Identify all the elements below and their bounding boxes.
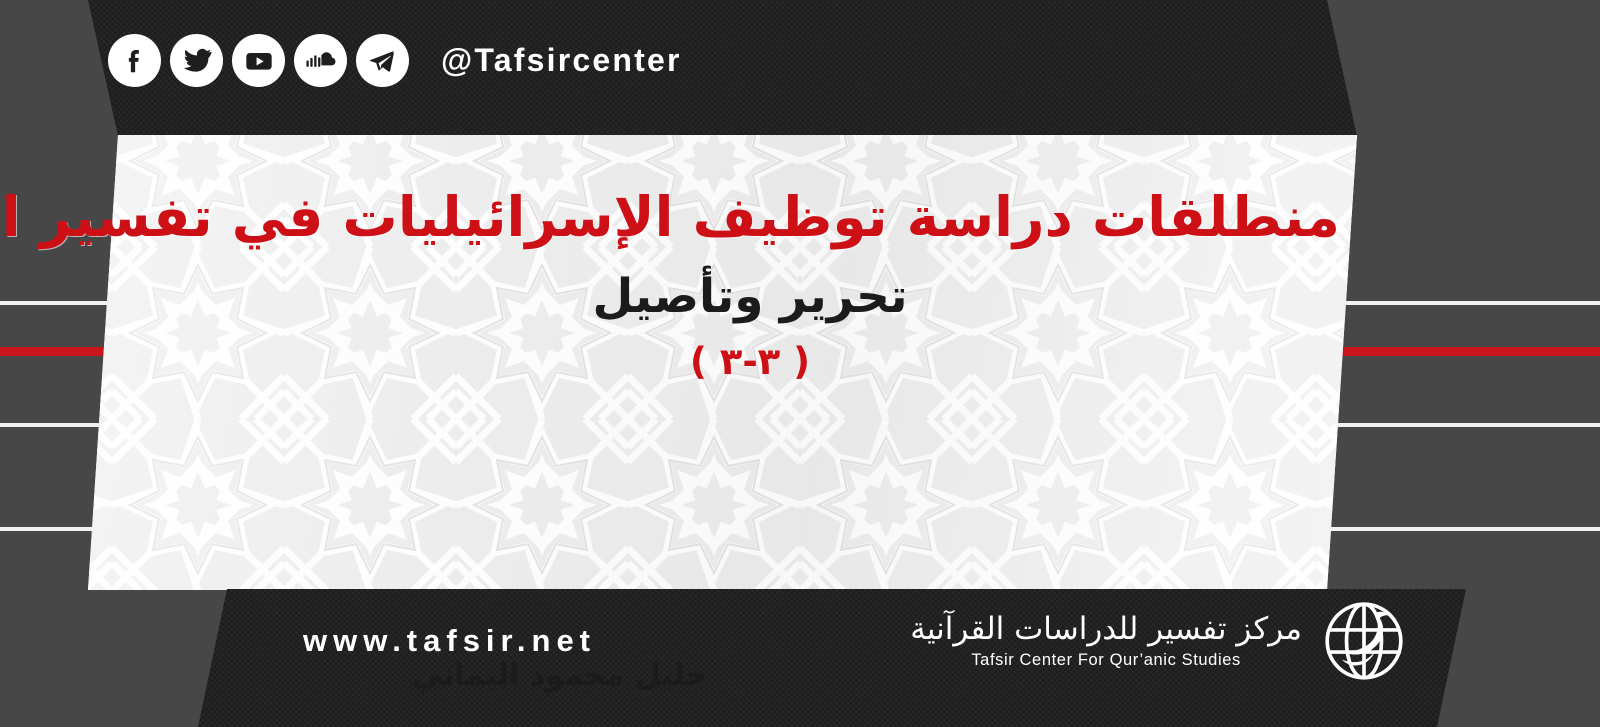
facebook-icon[interactable] bbox=[108, 34, 161, 87]
telegram-icon[interactable] bbox=[356, 34, 409, 87]
article-title: منطلقات دراسة توظيف الإسرائيليات في تفسي… bbox=[160, 186, 1340, 249]
youtube-icon[interactable] bbox=[232, 34, 285, 87]
logo-latin-name: Tafsir Center For Qur’anic Studies bbox=[910, 651, 1302, 670]
twitter-icon[interactable] bbox=[170, 34, 223, 87]
article-banner: @Tafsircenter منطلقات دراسة توظيف الإسرا… bbox=[0, 0, 1600, 727]
logo-arabic-name: مركز تفسير للدراسات القرآنية bbox=[910, 612, 1302, 646]
soundcloud-icon[interactable] bbox=[294, 34, 347, 87]
title-block: منطلقات دراسة توظيف الإسرائيليات في تفسي… bbox=[160, 186, 1340, 383]
logo-wordmark: مركز تفسير للدراسات القرآنية Tafsir Cent… bbox=[910, 612, 1302, 670]
website-url[interactable]: www.tafsir.net bbox=[303, 623, 596, 659]
author-name: خليل محمود اليماني bbox=[160, 658, 960, 693]
social-links-row: @Tafsircenter bbox=[108, 34, 682, 87]
organization-logo[interactable]: مركز تفسير للدراسات القرآنية Tafsir Cent… bbox=[910, 595, 1410, 687]
article-subtitle: تحرير وتأصيل bbox=[160, 269, 1340, 324]
globe-tafsir-emblem-icon bbox=[1318, 595, 1410, 687]
article-part-number: ( ٣-٣ ) bbox=[160, 340, 1340, 383]
social-handle: @Tafsircenter bbox=[441, 42, 682, 79]
